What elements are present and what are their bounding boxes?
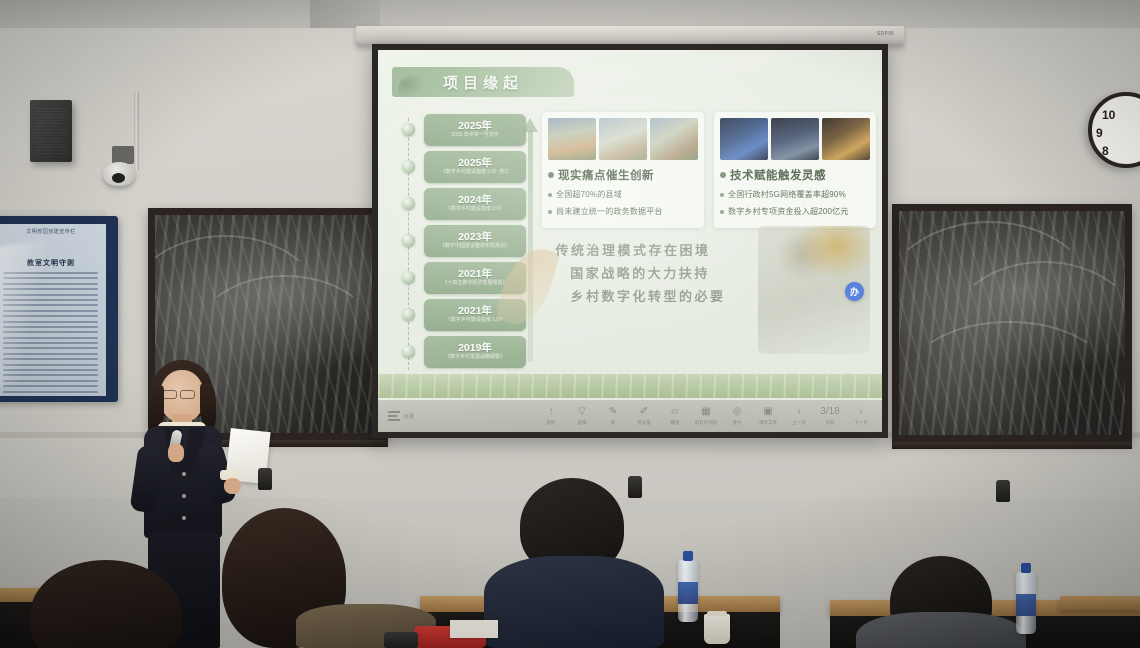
projector-screen-case: SDPIN — [356, 26, 904, 46]
pointer-icon[interactable]: ↑ — [546, 407, 557, 418]
blackboard-right-surface — [899, 211, 1125, 435]
phone — [384, 632, 418, 648]
clock-numeral: 10 — [1102, 108, 1115, 122]
timeline-year: 2025年 — [458, 121, 492, 133]
digital-network-photo-1 — [720, 118, 768, 160]
card-thumbnails — [720, 118, 870, 160]
toolbar-label: 上一页 — [792, 420, 806, 426]
timeline-sub: 《数字乡村建设指南 2.0》 — [443, 207, 507, 213]
presentation-slide: 项目缘起 2025年 2025 年中央一号文件 2025年 — [378, 50, 882, 432]
menu-icon[interactable] — [388, 411, 400, 421]
toolbar-eraser-button[interactable]: ▱ 橡皮 — [664, 407, 686, 426]
timeline-item: 2023年 《数字中国建设整体布局规划》 — [398, 223, 532, 259]
toolbar-menu[interactable]: 目录 — [388, 411, 414, 421]
card-bullet-text: 全国超70%的县域 — [556, 189, 622, 200]
card-bullet: 全国行政村5G网络覆盖率超90% — [720, 189, 870, 200]
card-heading: 技术赋能触发灵感 — [720, 167, 870, 183]
paper-cup — [704, 614, 730, 644]
field-decoration — [378, 374, 882, 398]
timeline-sub: 《数字乡村发展战略纲要》 — [442, 355, 508, 361]
slogan-line: 国家战略的大力扶持 — [532, 263, 748, 286]
bullet-icon — [720, 193, 724, 197]
timeline-sub: 《数字中国建设整体布局规划》 — [437, 244, 513, 250]
screen-brand-label: SDPIN — [877, 31, 894, 37]
card-bullet-text: 全国行政村5G网络覆盖率超90% — [728, 189, 846, 200]
timeline-card: 2023年 《数字中国建设整体布局规划》 — [424, 225, 526, 257]
classroom-scene: 文明校园创建宣传栏 教室文明守则 SDPIN — [0, 0, 1140, 648]
desk-microphone — [996, 480, 1010, 502]
water-bottle — [678, 560, 698, 622]
menu-label: 目录 — [404, 413, 414, 420]
bullet-icon — [548, 210, 552, 214]
timeline-dot-icon — [402, 234, 415, 247]
poster-board: 文明校园创建宣传栏 教室文明守则 — [0, 216, 118, 402]
projection-screen: 项目缘起 2025年 2025 年中央一号文件 2025年 — [372, 44, 888, 438]
pain-point-card: 现实痛点催生创新 全国超70%的县域 尚未建立统一的政务数据平台 — [542, 112, 704, 228]
card-title: 技术赋能触发灵感 — [730, 167, 826, 183]
timeline-sub: 《十四五数字经济发展规划》 — [439, 281, 510, 287]
blackboard-right — [892, 204, 1132, 442]
slide-title: 项目缘起 — [443, 72, 523, 93]
next-icon[interactable]: › — [856, 407, 867, 418]
timeline-sub: 《数字乡村建设指南 2.0》修订 — [438, 170, 512, 176]
timeline-item: 2025年 2025 年中央一号文件 — [398, 112, 532, 148]
card-bullet: 全国超70%的县域 — [548, 189, 698, 200]
timeline-card: 2019年 《数字乡村发展战略纲要》 — [424, 336, 526, 368]
bullet-icon — [548, 172, 554, 178]
timeline-item: 2019年 《数字乡村发展战略纲要》 — [398, 334, 532, 370]
presentation-toolbar[interactable]: 目录 ↑ 指针 ▽ 选择 ✎ 笔 ✐ — [378, 400, 882, 432]
timeline-year: 2025年 — [458, 158, 492, 170]
slogan-line: 传统治理模式存在困境 — [518, 240, 748, 263]
timeline-sub: 《数字乡村建设指南 1.0》 — [443, 318, 507, 324]
bullet-icon — [720, 172, 726, 178]
page-indicator: 3/18 — [825, 407, 836, 418]
toolbar-label: 选择 — [578, 420, 587, 426]
cursor-icon[interactable]: ▽ — [577, 407, 588, 418]
chalk-tray-right — [892, 442, 1132, 449]
card-bullet-text: 数字乡村专项资金投入超200亿元 — [728, 206, 849, 217]
toolbar-label: 幻灯片浏览 — [695, 420, 718, 426]
conduit-pipe — [134, 92, 139, 170]
audience-member-center-torso — [484, 556, 664, 648]
timeline-sub: 2025 年中央一号文件 — [448, 133, 502, 139]
toolbar-prev-page-button[interactable]: ‹ 上一页 — [788, 407, 810, 426]
toolbar-label: 演示工具 — [759, 420, 777, 426]
toolbar-label: 橡皮 — [671, 420, 680, 426]
toolbar-label: 荧光笔 — [637, 420, 651, 426]
tech-enablement-card: 技术赋能触发灵感 全国行政村5G网络覆盖率超90% 数字乡村专项资金投入超200… — [714, 112, 876, 228]
timeline-year: 2021年 — [458, 306, 492, 318]
toolbar-slide-browser-button[interactable]: ▦ 幻灯片浏览 — [695, 407, 717, 426]
fiber-worker-photo-3 — [822, 118, 870, 160]
toolbar-pen-button[interactable]: ✎ 笔 — [602, 407, 624, 426]
water-bottle — [1016, 572, 1036, 634]
poster-header: 文明校园创建宣传栏 — [0, 228, 106, 235]
audience-member-right-torso — [856, 612, 1026, 648]
papers — [450, 620, 498, 638]
highlighter-icon[interactable]: ✐ — [639, 407, 650, 418]
card-bullet: 尚未建立统一的政务数据平台 — [548, 206, 698, 217]
pen-icon[interactable]: ✎ — [608, 407, 619, 418]
poster-content: 文明校园创建宣传栏 教室文明守则 — [0, 224, 106, 396]
slide-title-banner: 项目缘起 — [392, 67, 574, 97]
timeline-year: 2024年 — [458, 195, 492, 207]
leaf-decoration-icon — [398, 75, 424, 97]
jacket-button — [182, 516, 186, 520]
card-thumbnails — [548, 118, 698, 160]
glasses-icon — [180, 390, 195, 399]
desk-row-edge — [1060, 596, 1140, 610]
bottle-label — [678, 582, 698, 604]
toolbar-pointer-button[interactable]: ↑ 指针 — [540, 407, 562, 426]
rural-road-photo-1 — [548, 118, 596, 160]
timeline-dot-icon — [402, 308, 415, 321]
timeline-dot-icon — [402, 271, 415, 284]
toolbar-zoom-button[interactable]: ◎ 放大 — [726, 407, 748, 426]
security-camera-icon — [103, 162, 135, 186]
eraser-icon[interactable]: ▱ — [670, 407, 681, 418]
toolbar-next-page-button[interactable]: › 下一页 — [850, 407, 872, 426]
card-bullet: 数字乡村专项资金投入超200亿元 — [720, 206, 870, 217]
timeline-dot-icon — [402, 160, 415, 173]
toolbar-label: 下一页 — [854, 420, 868, 426]
bullet-icon — [720, 210, 724, 214]
jacket-button — [182, 472, 186, 476]
policy-timeline: 2025年 2025 年中央一号文件 2025年 《数字乡村建设指南 2.0》修… — [398, 112, 532, 371]
data-center-photo-2 — [771, 118, 819, 160]
timeline-card: 2024年 《数字乡村建设指南 2.0》 — [424, 188, 526, 220]
bottle-label — [1016, 594, 1036, 616]
rural-road-photo-3 — [650, 118, 698, 160]
grid-icon[interactable]: ▦ — [701, 407, 712, 418]
timeline-item: 2024年 《数字乡村建设指南 2.0》 — [398, 186, 532, 222]
rural-road-photo-2 — [599, 118, 647, 160]
clock-numeral: 9 — [1096, 126, 1103, 140]
glasses-icon — [162, 390, 177, 399]
toolbar-items[interactable]: ↑ 指针 ▽ 选择 ✎ 笔 ✐ 荧光笔 — [540, 407, 872, 426]
presenter-hand-right — [224, 478, 241, 494]
timeline-dot-icon — [402, 345, 415, 358]
card-heading: 现实痛点催生创新 — [548, 167, 698, 183]
bullet-icon — [548, 193, 552, 197]
timeline-item: 2025年 《数字乡村建设指南 2.0》修订 — [398, 149, 532, 185]
timeline-dot-icon — [402, 197, 415, 210]
timeline-year: 2021年 — [458, 269, 492, 281]
card-bullet-text: 尚未建立统一的政务数据平台 — [556, 206, 663, 217]
slogan-line: 乡村数字化转型的必要 — [548, 286, 748, 309]
toolbar-label: 页码 — [826, 420, 835, 426]
wall-speaker — [30, 100, 72, 162]
toolbar-label: 指针 — [547, 420, 556, 426]
timeline-dot-icon — [402, 123, 415, 136]
jacket-button — [182, 494, 186, 498]
toolbar-highlighter-button[interactable]: ✐ 荧光笔 — [633, 407, 655, 426]
magnifier-icon[interactable]: ◎ — [732, 407, 743, 418]
timeline-year: 2019年 — [458, 343, 492, 355]
toolbar-label: 放大 — [733, 420, 742, 426]
desk-microphone — [258, 468, 272, 490]
slide-slogans: 传统治理模式存在困境 国家战略的大力扶持 乡村数字化转型的必要 — [518, 240, 748, 308]
timeline-card: 2025年 2025 年中央一号文件 — [424, 114, 526, 146]
desk-microphone — [628, 476, 642, 498]
present-icon[interactable]: ▣ — [763, 407, 774, 418]
service-badge-icon: 办 — [845, 282, 864, 301]
prev-icon[interactable]: ‹ — [794, 407, 805, 418]
toolbar-present-tools-button[interactable]: ▣ 演示工具 — [757, 407, 779, 426]
clock-numeral: 8 — [1102, 144, 1109, 158]
card-title: 现实痛点催生创新 — [558, 167, 654, 183]
toolbar-label: 笔 — [611, 420, 616, 426]
timeline-year: 2023年 — [458, 232, 492, 244]
presenter-hand-holding-mic — [168, 444, 184, 462]
toolbar-page-indicator: 3/18 页码 — [819, 407, 841, 426]
toolbar-select-button[interactable]: ▽ 选择 — [571, 407, 593, 426]
timeline-card: 2025年 《数字乡村建设指南 2.0》修订 — [424, 151, 526, 183]
